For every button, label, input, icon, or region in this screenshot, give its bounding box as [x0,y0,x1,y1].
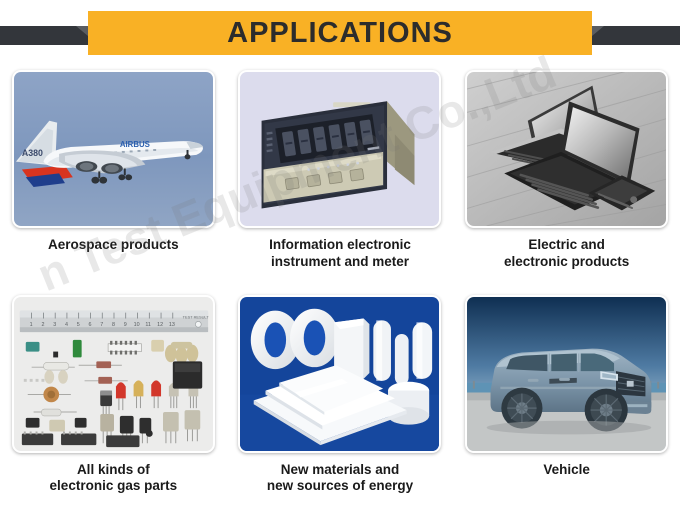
caption-vehicle: Vehicle [543,462,590,479]
svg-text:A380: A380 [22,148,43,158]
applications-grid: A380 AIRBUS [0,66,680,515]
svg-text:6: 6 [88,322,91,328]
grid-item-aerospace-products[interactable]: A380 AIRBUS [0,66,227,291]
ribbon-notch-left-icon [76,26,88,36]
grid-item-vehicle[interactable]: Vehicle [453,291,680,515]
svg-text:9: 9 [124,322,127,328]
caption-line-1: Electric and [528,237,605,252]
suv-vehicle-photo [467,297,666,451]
grid-item-new-materials-energy[interactable]: New materials and new sources of energy [227,291,454,515]
thumbnail-electric-electronic-products[interactable] [465,70,668,228]
grid-item-electronic-gas-parts[interactable]: 123 456 789 101112 13 TEST RESULT [0,291,227,515]
svg-text:8: 8 [112,322,115,328]
svg-text:7: 7 [100,322,103,328]
caption-electric-electronic-products: Electric and electronic products [504,237,629,271]
caption-new-materials-energy: New materials and new sources of energy [267,462,413,496]
caption-line-2: electronic gas parts [50,478,178,495]
ptfe-plastic-materials-photo [240,297,439,451]
thumbnail-vehicle[interactable] [465,295,668,453]
digital-panel-meter-photo [240,72,439,226]
caption-aerospace-products: Aerospace products [48,237,179,254]
svg-text:11: 11 [145,322,151,328]
thumbnail-aerospace-products[interactable]: A380 AIRBUS [12,70,215,228]
svg-text:13: 13 [169,322,175,328]
grid-item-electric-electronic-products[interactable]: Electric and electronic products [453,66,680,291]
caption-electronic-gas-parts: All kinds of electronic gas parts [50,462,178,496]
caption-line-1: New materials and [281,462,400,477]
thumbnail-new-materials-energy[interactable] [238,295,441,453]
svg-text:2: 2 [41,322,44,328]
laptops-greyscale-photo [467,72,666,226]
caption-line-1: Vehicle [543,462,590,477]
grid-item-information-electronic-instrument[interactable]: Information electronic instrument and me… [227,66,454,291]
header-ribbon: APPLICATIONS [88,11,592,55]
thumbnail-information-electronic-instrument[interactable] [238,70,441,228]
caption-information-electronic-instrument: Information electronic instrument and me… [269,237,411,271]
svg-text:4: 4 [65,322,68,328]
electronic-components-photo: 123 456 789 101112 13 TEST RESULT [14,297,213,451]
page-title: APPLICATIONS [227,19,453,48]
caption-line-1: All kinds of [77,462,150,477]
svg-text:1: 1 [30,322,33,328]
svg-text:10: 10 [133,322,139,328]
caption-line-2: new sources of energy [267,478,413,495]
caption-line-2: instrument and meter [269,254,411,271]
svg-text:12: 12 [157,322,163,328]
thumbnail-electronic-gas-parts[interactable]: 123 456 789 101112 13 TEST RESULT [12,295,215,453]
svg-text:5: 5 [77,322,80,328]
ribbon-notch-right-icon [592,26,604,36]
page-header: APPLICATIONS [0,0,680,66]
caption-line-2: electronic products [504,254,629,271]
airbus-a380-aircraft-photo: A380 AIRBUS [14,72,213,226]
svg-text:TEST RESULT: TEST RESULT [182,314,209,319]
svg-text:AIRBUS: AIRBUS [120,140,150,149]
caption-line-1: Aerospace products [48,237,179,252]
svg-text:3: 3 [53,322,56,328]
caption-line-1: Information electronic [269,237,411,252]
